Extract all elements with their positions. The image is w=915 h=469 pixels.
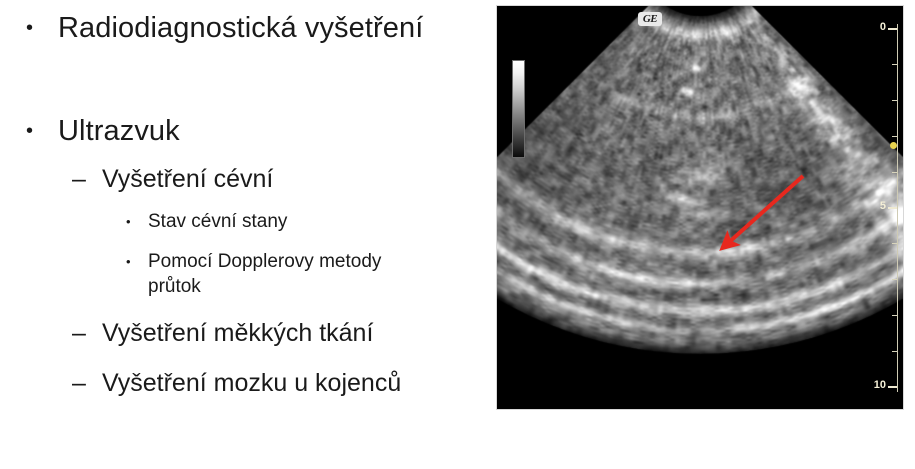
bullet-marker-icon: • (126, 209, 148, 234)
ruler-tick-minor (892, 100, 897, 101)
list-item-label: Vyšetření cévní (102, 164, 452, 195)
ruler-tick-major (888, 28, 897, 30)
ruler-tick-minor (892, 279, 897, 280)
ultrasound-sector-scan (497, 6, 903, 409)
list-item: • Stav cévní stany (126, 209, 426, 234)
list-item: • Ultrazvuk (26, 113, 446, 149)
list-item: – Vyšetření měkkých tkání (72, 318, 452, 349)
bullet-marker-icon: • (126, 249, 148, 274)
depth-label-5: 5 (880, 200, 886, 212)
list-item-label: Vyšetření mozku u kojenců (102, 368, 452, 399)
focus-zone-marker (890, 142, 897, 149)
ultrasound-image: GE 0 5 10 (497, 6, 903, 409)
ruler-tick-major (888, 207, 897, 209)
list-item-label: Stav cévní stany (148, 209, 426, 234)
ruler-axis-line (897, 24, 898, 392)
ruler-tick-minor (892, 315, 897, 316)
slide-canvas: • Radiodiagnostická vyšetření • Ultrazvu… (0, 0, 915, 469)
list-item: • Pomocí Dopplerovy metody průtok (126, 249, 426, 299)
ruler-tick-minor (892, 351, 897, 352)
ruler-tick-minor (892, 243, 897, 244)
list-item-label: Ultrazvuk (58, 113, 446, 149)
list-item: – Vyšetření mozku u kojenců (72, 368, 452, 399)
dash-marker-icon: – (72, 164, 102, 195)
bullet-marker-icon: • (26, 10, 58, 46)
dash-marker-icon: – (72, 318, 102, 349)
ruler-tick-major (888, 386, 897, 388)
ruler-tick-minor (892, 172, 897, 173)
bullet-list: • Radiodiagnostická vyšetření • Ultrazvu… (0, 0, 470, 469)
dash-marker-icon: – (72, 368, 102, 399)
ruler-tick-minor (892, 64, 897, 65)
list-item: – Vyšetření cévní (72, 164, 452, 195)
bullet-marker-icon: • (26, 113, 58, 149)
depth-label-0: 0 (880, 21, 886, 33)
grayscale-reference-bar (512, 60, 525, 158)
depth-label-10: 10 (874, 379, 886, 391)
depth-ruler: 0 5 10 (867, 6, 901, 409)
ruler-tick-minor (892, 136, 897, 137)
list-item: • Radiodiagnostická vyšetření (26, 10, 446, 46)
list-item-label: Radiodiagnostická vyšetření (58, 10, 446, 46)
ge-manufacturer-logo: GE (638, 12, 662, 26)
list-item-label: Vyšetření měkkých tkání (102, 318, 452, 349)
list-item-label: Pomocí Dopplerovy metody průtok (148, 249, 426, 299)
